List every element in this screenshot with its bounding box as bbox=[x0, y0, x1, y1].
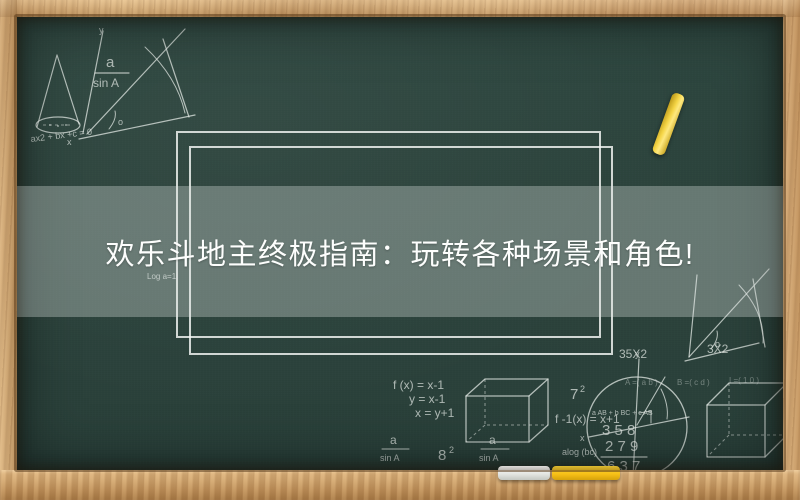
frame-bevel-top bbox=[0, 0, 800, 17]
chalkboard-banner: a sin A ax2 + bx +c = 0 y x o bbox=[0, 0, 800, 500]
chalk-tray bbox=[0, 470, 800, 500]
frame-inner-shadow bbox=[16, 16, 784, 470]
